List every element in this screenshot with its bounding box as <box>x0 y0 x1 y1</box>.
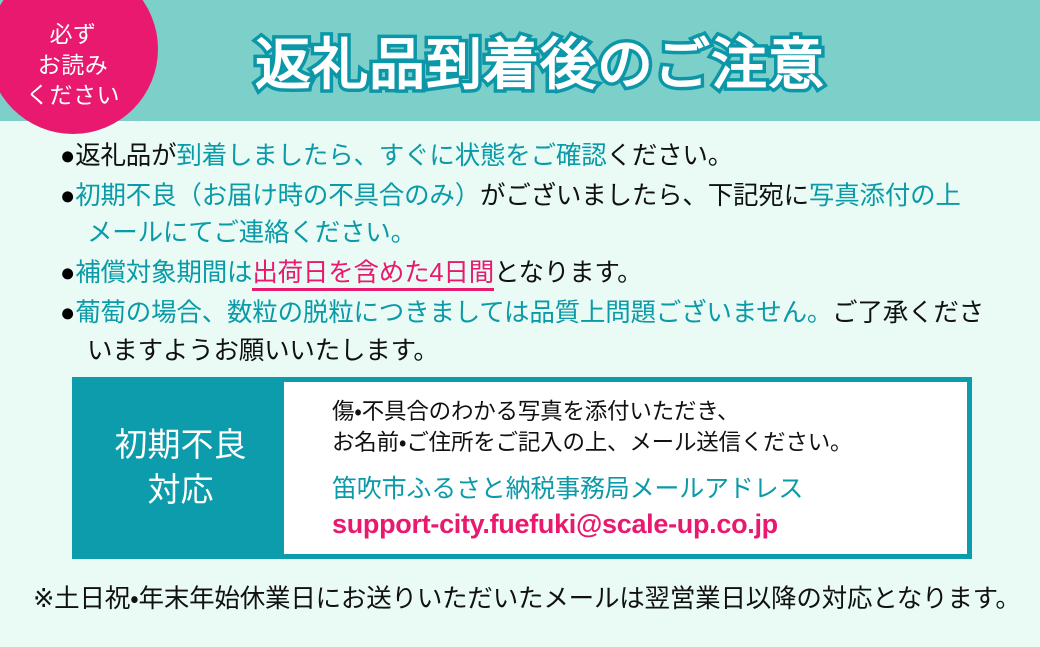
bullet-continuation-line: メールにてご連絡ください。 <box>60 215 1020 253</box>
bullet-dot-icon: ● <box>60 299 75 327</box>
bullet-line: ●返礼品が到着しましたら、すぐに状態をご確認ください。 <box>60 138 1020 176</box>
bullet-item: ●補償対象期間は出荷日を含めた4日間となります。 <box>60 255 1020 293</box>
bullet-text-segment: 出荷日を含めた4日間 <box>252 259 494 291</box>
bullet-line: ●補償対象期間は出荷日を含めた4日間となります。 <box>60 255 1020 293</box>
badge-line-1: 必ず <box>50 19 97 49</box>
badge-line-2: お読み <box>38 50 109 80</box>
page-title: 返礼品到着後のご注意 <box>255 17 955 103</box>
bullet-text-segment: ください。 <box>607 142 734 170</box>
bullet-text-segment: 返礼品が <box>75 142 176 170</box>
notice-page: 返礼品到着後のご注意 必ず お読み ください ●返礼品が到着しましたら、すぐに状… <box>0 0 1040 647</box>
bullet-text-segment: がございましたら、下記宛に <box>480 182 809 210</box>
bullet-text-segment: 写真添付の上 <box>809 182 961 210</box>
bullet-text-segment: 葡萄の場合、数粒の脱粒につきましては品質上問題ございません。 <box>75 299 832 327</box>
badge-line-3: ください <box>26 80 120 110</box>
notice-bullet-list: ●返礼品が到着しましたら、すぐに状態をご確認ください。●初期不良（お届け時の不具… <box>60 138 1020 372</box>
bullet-text-segment: ご了承くださ <box>832 299 984 327</box>
bullet-item: ●葡萄の場合、数粒の脱粒につきましては品質上問題ございません。ご了承くださいます… <box>60 295 1020 370</box>
instruction-line-1: 傷・不具合のわかる写真を添付いただき、 <box>332 396 967 427</box>
bullet-continuation-line: いますようお願いいたします。 <box>60 333 1020 371</box>
instruction-line-2: お名前・ご住所をご記入の上、メール送信ください。 <box>332 427 967 458</box>
bullet-item: ●返礼品が到着しましたら、すぐに状態をご確認ください。 <box>60 138 1020 176</box>
bullet-text-segment: いますようお願いいたします。 <box>87 337 439 365</box>
bullet-dot-icon: ● <box>60 142 75 170</box>
bullet-item: ●初期不良（お届け時の不具合のみ）がございましたら、下記宛に写真添付の上メールに… <box>60 178 1020 253</box>
contact-box-label-line-2: 対応 <box>148 468 214 513</box>
bullet-text-segment: となります。 <box>494 259 643 287</box>
bullet-line: ●葡萄の場合、数粒の脱粒につきましては品質上問題ございません。ご了承くださ <box>60 295 1020 333</box>
bullet-dot-icon: ● <box>60 259 75 287</box>
must-read-badge: 必ず お読み ください <box>0 0 158 134</box>
bullet-text-segment: 補償対象期間は <box>75 259 252 287</box>
contact-email-address[interactable]: support-city.fuefuki@scale-up.co.jp <box>332 509 967 540</box>
bullet-line: ●初期不良（お届け時の不具合のみ）がございましたら、下記宛に写真添付の上 <box>60 178 1020 216</box>
header-band: 返礼品到着後のご注意 必ず お読み ください <box>0 0 1040 121</box>
contact-department-label: 笛吹市ふるさと納税事務局メールアドレス <box>332 469 967 505</box>
bullet-dot-icon: ● <box>60 182 75 210</box>
contact-box-label: 初期不良 対応 <box>77 382 284 554</box>
contact-box-label-line-1: 初期不良 <box>115 423 247 468</box>
initial-defect-contact-box: 初期不良 対応 傷・不具合のわかる写真を添付いただき、 お名前・ご住所をご記入の… <box>72 377 972 559</box>
footnote-text: ※土日祝・年末年始休業日にお送りいただいたメールは翌営業日以降の対応となります。 <box>33 578 1021 615</box>
bullet-text-segment: メールにてご連絡ください。 <box>87 219 416 247</box>
contact-box-body: 傷・不具合のわかる写真を添付いただき、 お名前・ご住所をご記入の上、メール送信く… <box>284 382 967 554</box>
bullet-text-segment: 到着しましたら、すぐに状態をご確認 <box>176 142 606 170</box>
bullet-text-segment: 初期不良（お届け時の不具合のみ） <box>75 182 480 210</box>
